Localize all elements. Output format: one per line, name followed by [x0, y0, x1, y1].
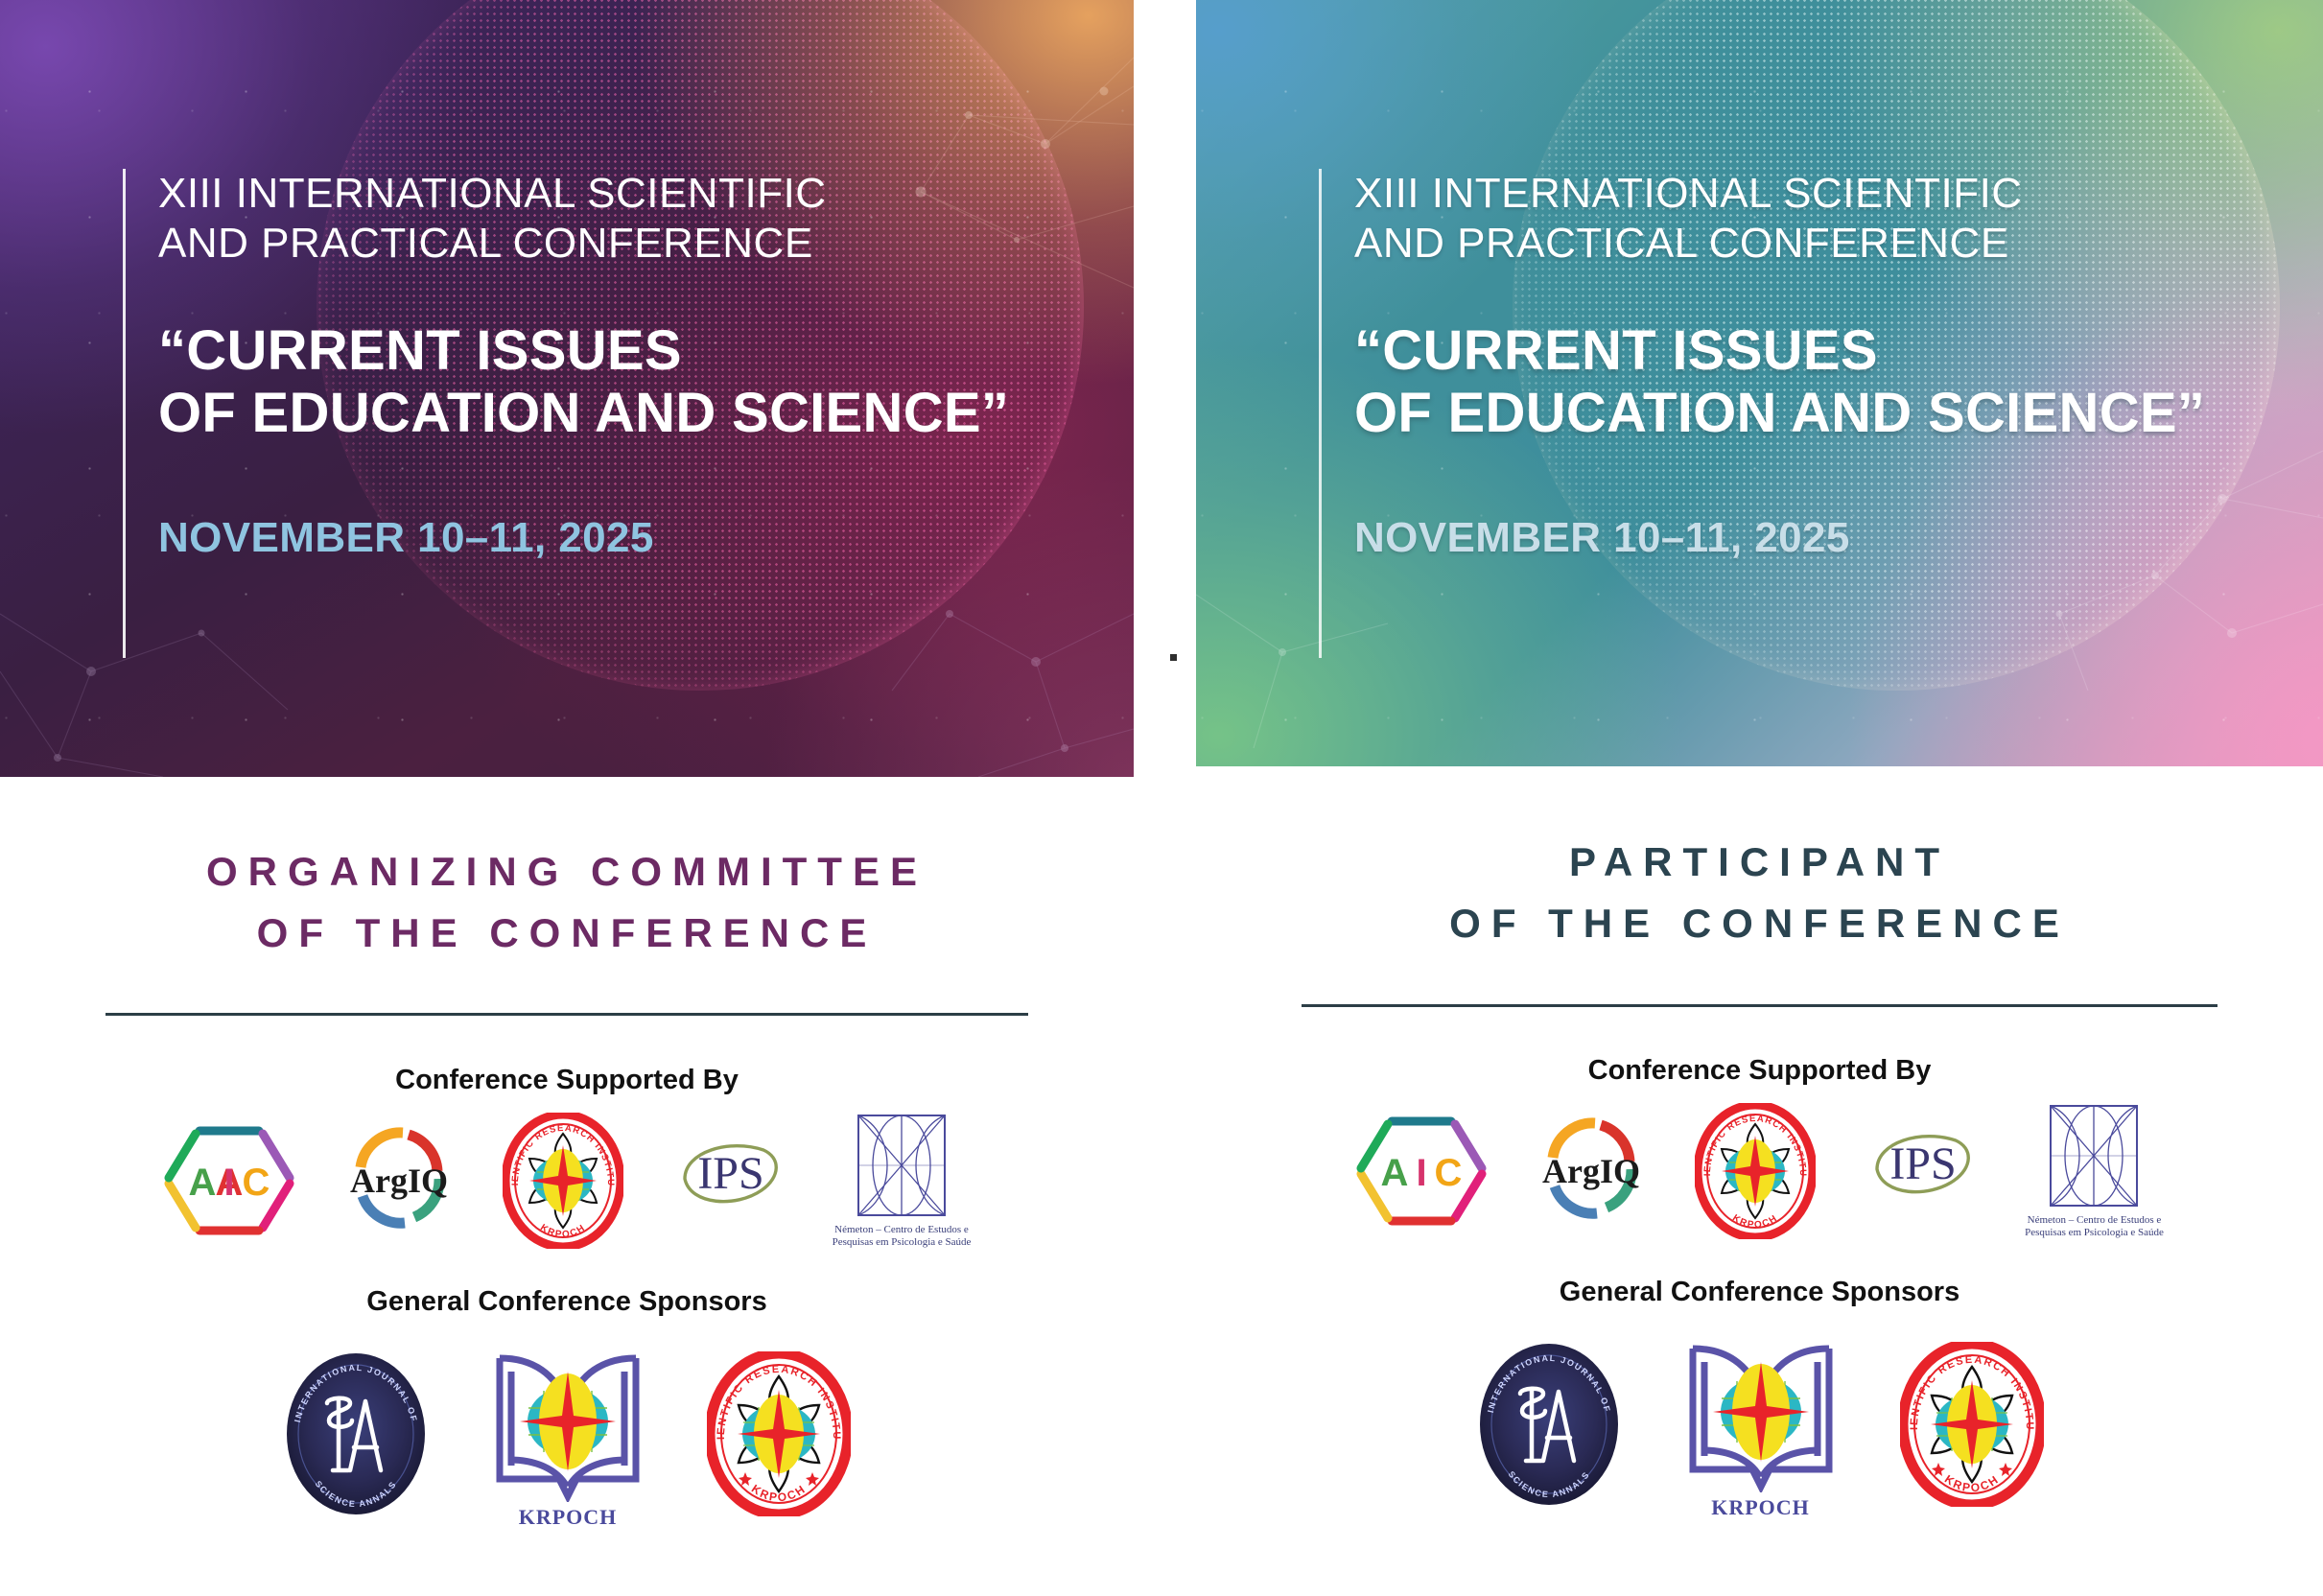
title-divider [1302, 1004, 2217, 1007]
argiq-icon: ArgIQ [1532, 1114, 1651, 1229]
logo-ips: IPS [1860, 1123, 1981, 1219]
logo-scientific-research-institute: SCIENTIFIC RESEARCH INSTITUTE KRPOCH [503, 1113, 623, 1249]
krpoch-caption: KRPOCH [1711, 1494, 1810, 1521]
nemeton-caption: Németon – Centro de Estudos e Pesquisas … [833, 1224, 972, 1251]
svg-text:ArgIQ: ArgIQ [350, 1162, 448, 1200]
svg-text:A: A [188, 1162, 216, 1204]
svg-text:IPS: IPS [697, 1148, 763, 1199]
certificate-title: PARTICIPANT OF THE CONFERENCE [1255, 832, 2264, 954]
nemeton-caption: Németon – Centro de Estudos e Pesquisas … [2025, 1214, 2164, 1241]
conference-kicker: XIII INTERNATIONAL SCIENTIFIC AND PRACTI… [1354, 169, 2205, 270]
certificate-organizing-committee: XIII INTERNATIONAL SCIENTIFIC AND PRACTI… [0, 0, 1134, 1596]
banner-text-block-right: XIII INTERNATIONAL SCIENTIFIC AND PRACTI… [1319, 169, 2205, 562]
logo-krpoch-publishing: KRPOCH [1683, 1327, 1839, 1521]
logo-sri-sponsor: SCIENTIFIC RESEARCH INSTITUTE KRPOCH [707, 1351, 851, 1516]
logo-aic: A I C [1355, 1113, 1488, 1230]
scan-artifact-dot [1170, 654, 1177, 661]
argiq-icon: ArgIQ [340, 1123, 458, 1238]
vertical-accent-bar [123, 169, 126, 658]
svg-text:I: I [223, 1162, 234, 1204]
svg-text:C: C [1435, 1152, 1463, 1194]
krpoch-caption: KRPOCH [519, 1504, 618, 1531]
conference-dates: NOVEMBER 10–11, 2025 [1354, 514, 2205, 562]
svg-text:A: A [1381, 1152, 1409, 1194]
logo-scientific-research-institute: SCIENTIFIC RESEARCH INSTITUTE KRPOCH [1695, 1103, 1816, 1239]
vertical-accent-bar [1319, 169, 1322, 658]
sri-krpoch-icon: SCIENTIFIC RESEARCH INSTITUTE KRPOCH [1695, 1103, 1816, 1239]
sponsor-logo-row: INTERNATIONAL JOURNAL OF SCIENCE ANNALS [1255, 1327, 2264, 1521]
ips-icon: IPS [668, 1133, 788, 1229]
certificate-body-right: PARTICIPANT OF THE CONFERENCE Conference… [1196, 832, 2323, 1521]
svg-text:I: I [1417, 1152, 1427, 1194]
sponsors-label: General Conference Sponsors [59, 1286, 1074, 1318]
krpoch-book-icon [490, 1337, 645, 1502]
logo-argiq: ArgIQ [340, 1123, 458, 1238]
certificate-participant: XIII INTERNATIONAL SCIENTIFIC AND PRACTI… [1196, 0, 2323, 1596]
logo-nemeton: Németon – Centro de Estudos e Pesquisas … [2025, 1102, 2164, 1241]
ijsa-icon: INTERNATIONAL JOURNAL OF SCIENCE ANNALS [283, 1351, 429, 1516]
sponsor-logo-row: INTERNATIONAL JOURNAL OF SCIENCE ANNALS [59, 1337, 1074, 1531]
svg-text:ArgIQ: ArgIQ [1542, 1152, 1640, 1190]
logo-argiq: ArgIQ [1532, 1114, 1651, 1229]
logo-ips: IPS [668, 1133, 788, 1229]
banner-left: XIII INTERNATIONAL SCIENTIFIC AND PRACTI… [0, 0, 1134, 777]
banner-right: XIII INTERNATIONAL SCIENTIFIC AND PRACTI… [1196, 0, 2323, 766]
certificates-page: XIII INTERNATIONAL SCIENTIFIC AND PRACTI… [0, 0, 2323, 1596]
conference-dates: NOVEMBER 10–11, 2025 [158, 514, 1009, 562]
sponsors-label: General Conference Sponsors [1255, 1277, 2264, 1308]
certificate-title: ORGANIZING COMMITTEE OF THE CONFERENCE [59, 841, 1074, 964]
conference-headline: “CURRENT ISSUES OF EDUCATION AND SCIENCE… [158, 319, 1009, 445]
nemeton-icon [853, 1112, 950, 1219]
ips-icon: IPS [1860, 1123, 1981, 1219]
conference-kicker: XIII INTERNATIONAL SCIENTIFIC AND PRACTI… [158, 169, 1009, 270]
svg-text:C: C [242, 1162, 270, 1204]
aic-icon: A I C [1355, 1113, 1488, 1230]
banner-text-block-left: XIII INTERNATIONAL SCIENTIFIC AND PRACTI… [123, 169, 1009, 562]
supporter-logo-row: A A I C [59, 1112, 1074, 1251]
aic-icon: A A I C [163, 1122, 295, 1239]
logo-krpoch-publishing: KRPOCH [490, 1337, 645, 1531]
logo-sri-sponsor: SCIENTIFIC RESEARCH INSTITUTE KRPOCH [1900, 1342, 2044, 1507]
logo-ijsa: INTERNATIONAL JOURNAL OF SCIENCE ANNALS [1476, 1342, 1622, 1507]
certificate-body-left: ORGANIZING COMMITTEE OF THE CONFERENCE C… [0, 841, 1134, 1531]
sri-krpoch-icon: SCIENTIFIC RESEARCH INSTITUTE KRPOCH [503, 1113, 623, 1249]
ijsa-icon: INTERNATIONAL JOURNAL OF SCIENCE ANNALS [1476, 1342, 1622, 1507]
logo-aic: A A I C [163, 1122, 295, 1239]
logo-nemeton: Németon – Centro de Estudos e Pesquisas … [833, 1112, 972, 1251]
supporters-label: Conference Supported By [59, 1065, 1074, 1096]
nemeton-icon [2045, 1102, 2143, 1209]
sri-krpoch-sponsor-icon: SCIENTIFIC RESEARCH INSTITUTE KRPOCH [1900, 1342, 2044, 1507]
title-divider [106, 1013, 1028, 1016]
logo-ijsa: INTERNATIONAL JOURNAL OF SCIENCE ANNALS [283, 1351, 429, 1516]
conference-headline: “CURRENT ISSUES OF EDUCATION AND SCIENCE… [1354, 319, 2205, 445]
sri-krpoch-sponsor-icon: SCIENTIFIC RESEARCH INSTITUTE KRPOCH [707, 1351, 851, 1516]
supporter-logo-row: A I C ArgIQ [1255, 1102, 2264, 1241]
supporters-label: Conference Supported By [1255, 1055, 2264, 1087]
svg-text:IPS: IPS [1889, 1138, 1956, 1189]
krpoch-book-icon [1683, 1327, 1839, 1492]
